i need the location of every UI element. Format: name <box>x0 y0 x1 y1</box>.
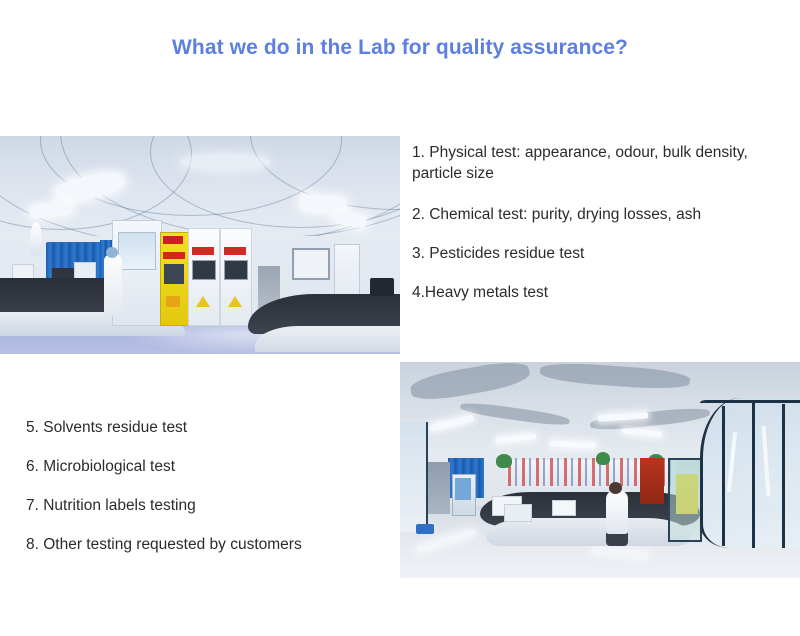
glass-partition-left <box>400 422 428 532</box>
glass-door <box>668 458 702 542</box>
hazard-label <box>166 296 180 307</box>
page-title: What we do in the Lab for quality assura… <box>0 36 800 60</box>
list-item: 6. Microbiological test <box>26 457 396 478</box>
lab-panorama-bottom-image <box>400 362 800 578</box>
list-item: 7. Nutrition labels testing <box>26 496 396 517</box>
list-item: 4.Heavy metals test <box>412 283 792 304</box>
potted-plant <box>596 452 610 465</box>
fume-hood-sash <box>118 232 156 270</box>
lab-panorama-top-image <box>0 136 400 354</box>
lab-bench-right-base <box>255 326 400 352</box>
cabinet-window <box>164 264 184 284</box>
glass-mullion <box>782 404 785 548</box>
cabinet-window <box>192 260 216 280</box>
list-item: 5. Solvents residue test <box>26 418 396 439</box>
test-list-left: 5. Solvents residue test 6. Microbiologi… <box>26 418 396 574</box>
lab-technician-head <box>609 482 622 494</box>
lab-technician <box>104 254 122 316</box>
potted-plant <box>496 454 512 468</box>
glass-mullion <box>752 400 755 548</box>
computer-monitor <box>370 278 394 296</box>
lab-lamp <box>30 222 42 256</box>
list-item: 3. Pesticides residue test <box>412 244 792 265</box>
lab-instrument <box>552 500 576 516</box>
test-list-right: 1. Physical test: appearance, odour, bul… <box>412 143 792 322</box>
warning-label <box>192 247 214 255</box>
lab-technician-head <box>106 247 118 258</box>
lab-instrument <box>504 504 532 522</box>
cabinet-window <box>224 260 248 280</box>
incubator-window <box>455 478 471 500</box>
list-item: 1. Physical test: appearance, odour, bul… <box>412 143 792 185</box>
glass-mullion <box>722 406 725 546</box>
wall-board <box>292 248 330 280</box>
warning-label <box>163 252 185 259</box>
blue-container <box>416 524 434 534</box>
glass-frame-top <box>700 400 800 403</box>
warning-label <box>163 236 183 244</box>
list-item: 2. Chemical test: purity, drying losses,… <box>412 205 792 226</box>
lab-bench-base <box>486 518 691 546</box>
refrigerator <box>428 462 450 514</box>
curved-glass-partition <box>700 398 800 548</box>
hazard-triangle-icon <box>196 296 210 307</box>
ceiling-light <box>180 154 270 170</box>
list-item: 8. Other testing requested by customers <box>26 535 396 556</box>
lab-technician <box>606 490 628 534</box>
hazard-triangle-icon <box>228 296 242 307</box>
red-door <box>640 458 664 504</box>
warning-label <box>224 247 246 255</box>
